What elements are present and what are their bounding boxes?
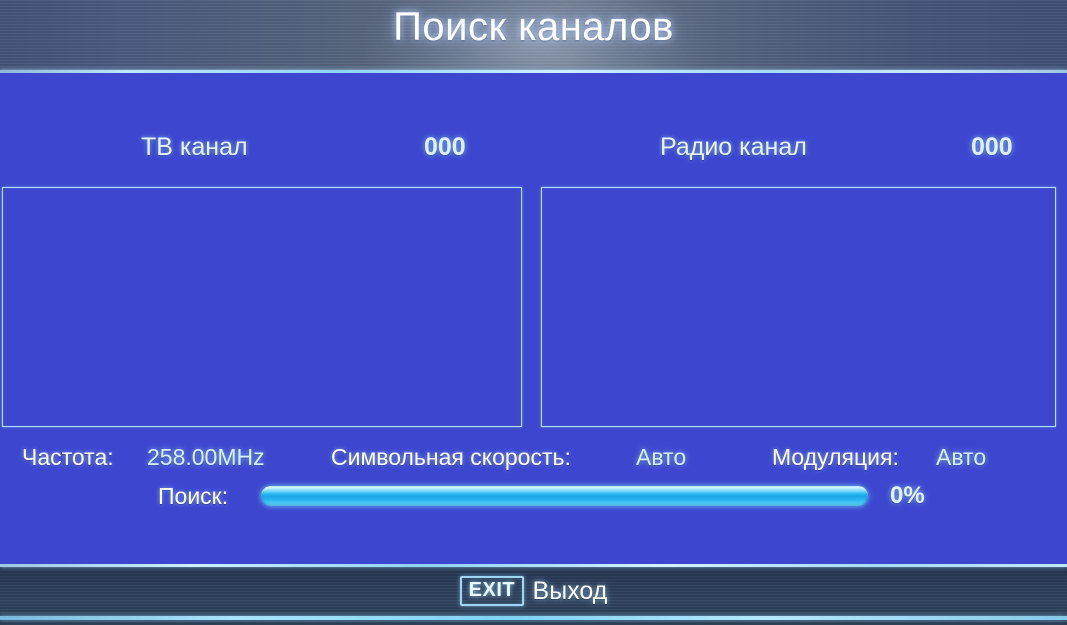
tv-channel-count: 000	[424, 133, 466, 162]
exit-key-icon: EXIT	[460, 576, 524, 606]
symbol-rate-label: Символьная скорость:	[331, 444, 571, 471]
search-progress-percent: 0%	[890, 482, 925, 510]
frequency-label: Частота:	[22, 444, 114, 471]
exit-hint-group[interactable]: EXIT Выход	[0, 576, 1067, 606]
tv-channel-list-box[interactable]	[2, 187, 522, 427]
main-content-area: ТВ канал 000 Радио канал 000 Частота: 25…	[0, 73, 1067, 564]
search-progress-label: Поиск:	[158, 483, 228, 510]
footer-bottom-divider	[0, 616, 1067, 620]
footer-top-divider	[0, 564, 1067, 567]
tv-channel-label: ТВ канал	[141, 133, 248, 162]
page-title: Поиск каналов	[0, 5, 1067, 50]
modulation-label: Модуляция:	[772, 444, 899, 471]
search-progress-bar	[261, 486, 868, 506]
screen-header: Поиск каналов	[0, 0, 1067, 72]
progress-bar-sheen	[261, 487, 868, 494]
modulation-value: Авто	[936, 444, 986, 471]
radio-channel-label: Радио канал	[660, 133, 807, 162]
exit-action-label: Выход	[533, 577, 608, 606]
radio-channel-list-box[interactable]	[541, 187, 1056, 427]
frequency-value: 258.00MHz	[147, 444, 265, 471]
screen-footer: EXIT Выход	[0, 564, 1067, 625]
tv-channel-search-screen: Поиск каналов ТВ канал 000 Радио канал 0…	[0, 0, 1067, 625]
symbol-rate-value: Авто	[636, 444, 686, 471]
radio-channel-count: 000	[971, 133, 1013, 162]
